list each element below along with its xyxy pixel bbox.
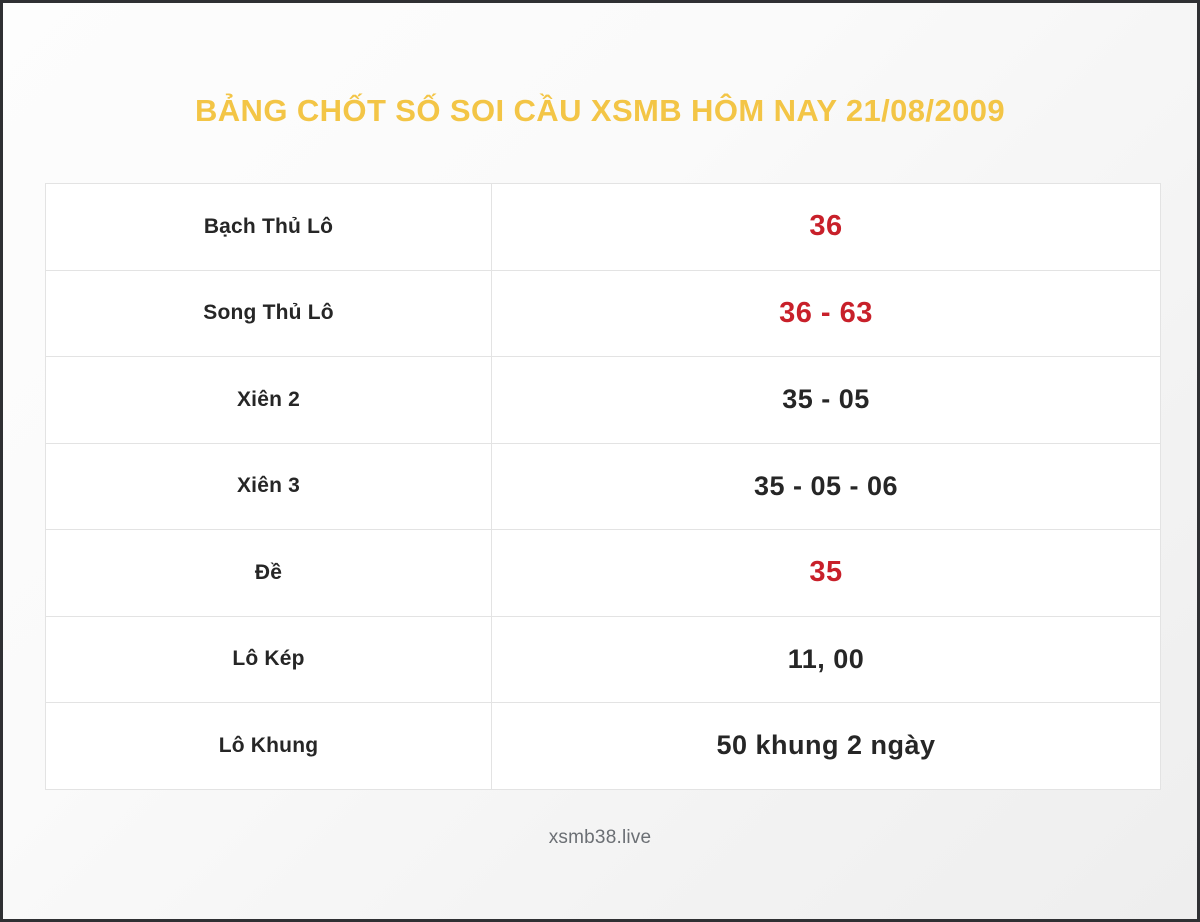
table-row: Xiên 335 - 05 - 06: [46, 444, 1160, 531]
page-title: BẢNG CHỐT SỐ SOI CẦU XSMB HÔM NAY 21/08/…: [195, 95, 1005, 126]
table-row: Lô Khung50 khung 2 ngày: [46, 703, 1160, 790]
row-value: 36: [492, 184, 1160, 270]
row-label: Xiên 3: [46, 444, 492, 530]
row-label: Lô Khung: [46, 703, 492, 789]
table-row: Song Thủ Lô36 - 63: [46, 271, 1160, 358]
table-row: Đề35: [46, 530, 1160, 617]
row-label: Đề: [46, 530, 492, 616]
row-value: 35 - 05 - 06: [492, 444, 1160, 530]
soi-cau-table: Bạch Thủ Lô36Song Thủ Lô36 - 63Xiên 235 …: [45, 183, 1161, 790]
footer-site-label: xsmb38.live: [3, 827, 1197, 849]
row-value: 50 khung 2 ngày: [492, 703, 1160, 789]
row-label: Song Thủ Lô: [46, 271, 492, 357]
table-row: Bạch Thủ Lô36: [46, 184, 1160, 271]
row-value: 11, 00: [492, 617, 1160, 703]
row-label: Bạch Thủ Lô: [46, 184, 492, 270]
row-value: 35: [492, 530, 1160, 616]
row-label: Xiên 2: [46, 357, 492, 443]
page-surface: BẢNG CHỐT SỐ SOI CẦU XSMB HÔM NAY 21/08/…: [0, 0, 1200, 922]
row-label: Lô Kép: [46, 617, 492, 703]
table-row: Xiên 235 - 05: [46, 357, 1160, 444]
table-row: Lô Kép11, 00: [46, 617, 1160, 704]
row-value: 35 - 05: [492, 357, 1160, 443]
row-value: 36 - 63: [492, 271, 1160, 357]
